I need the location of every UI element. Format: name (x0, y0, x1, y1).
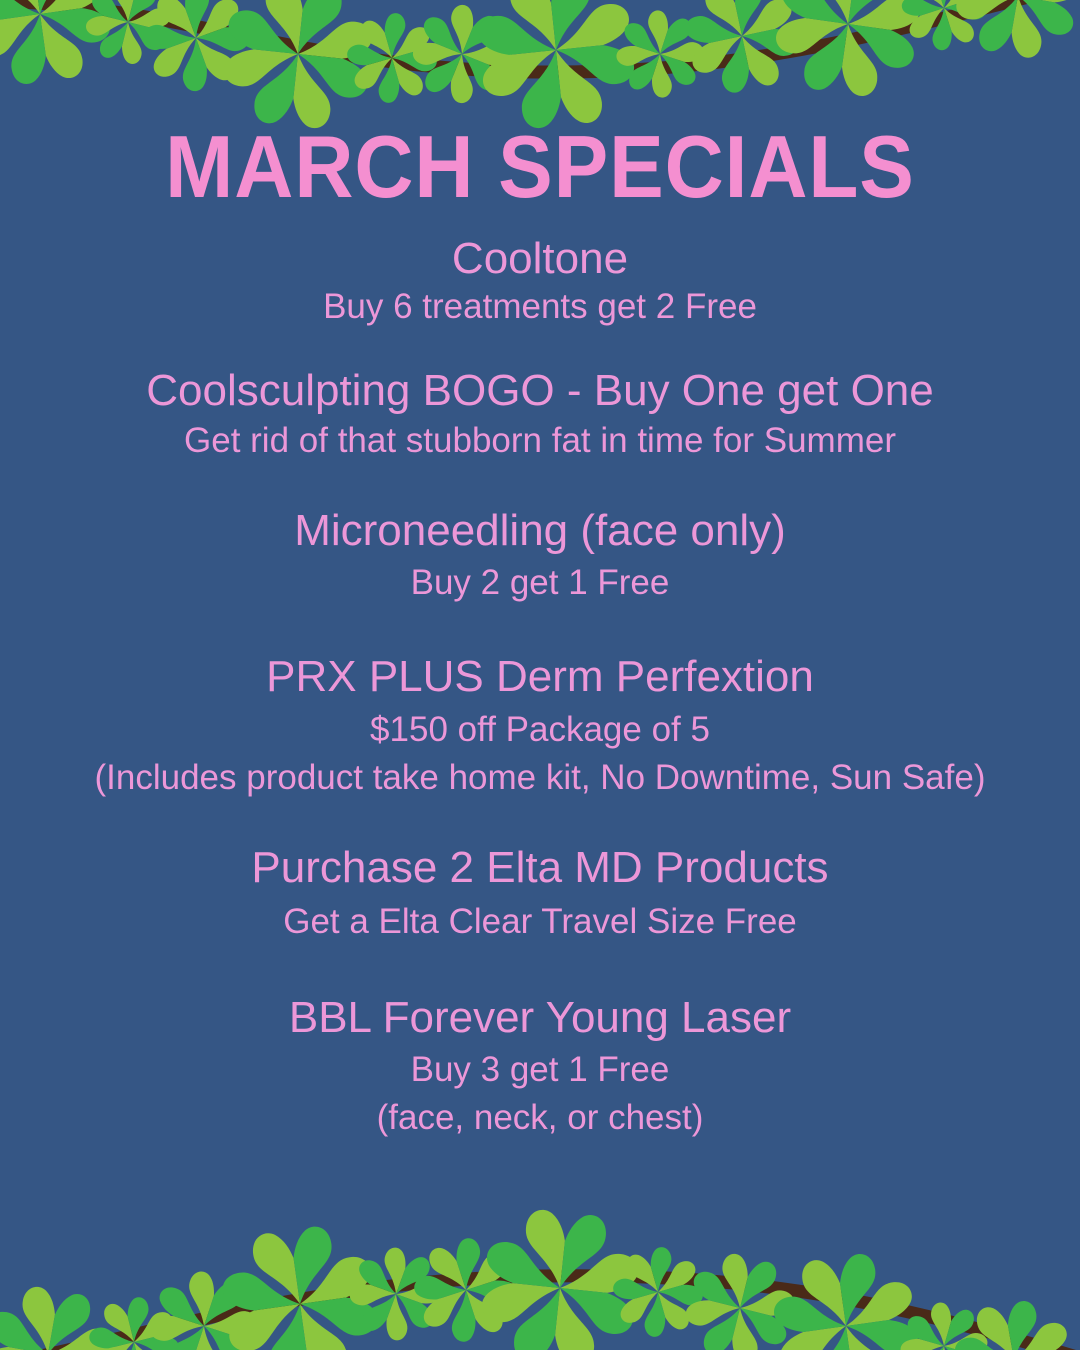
special-title: BBL Forever Young Laser (26, 993, 1054, 1043)
bottom-clover-garland (0, 1156, 1080, 1350)
special-item: BBL Forever Young Laser Buy 3 get 1 Free… (26, 993, 1054, 1139)
special-item: Coolsculpting BOGO - Buy One get One Get… (26, 366, 1054, 462)
special-item: Purchase 2 Elta MD Products Get a Elta C… (26, 843, 1054, 943)
special-detail: Buy 2 get 1 Free (26, 562, 1054, 604)
special-title: Microneedling (face only) (26, 506, 1054, 556)
special-item: Microneedling (face only) Buy 2 get 1 Fr… (26, 506, 1054, 604)
special-detail: $150 off Package of 5 (26, 709, 1054, 751)
vine-stroke (0, 0, 1080, 72)
march-specials-poster: MARCH SPECIALS Cooltone Buy 6 treatments… (0, 0, 1080, 1350)
vine-stroke (0, 1276, 1080, 1350)
special-detail: Get rid of that stubborn fat in time for… (26, 420, 1054, 462)
specials-list: Cooltone Buy 6 treatments get 2 Free Coo… (0, 234, 1080, 1139)
special-title: PRX PLUS Derm Perfextion (26, 652, 1054, 702)
special-item: Cooltone Buy 6 treatments get 2 Free (26, 234, 1054, 328)
special-detail: (face, neck, or chest) (26, 1097, 1054, 1139)
clover-cluster (0, 1205, 1080, 1350)
special-title: Coolsculpting BOGO - Buy One get One (26, 366, 1054, 416)
special-detail: Buy 6 treatments get 2 Free (26, 286, 1054, 328)
special-detail: (Includes product take home kit, No Down… (26, 757, 1054, 799)
special-title: Cooltone (26, 234, 1054, 284)
clover-cluster (0, 0, 1080, 133)
special-detail: Get a Elta Clear Travel Size Free (26, 901, 1054, 943)
page-title: MARCH SPECIALS (38, 123, 1042, 211)
special-item: PRX PLUS Derm Perfextion $150 off Packag… (26, 652, 1054, 798)
special-detail: Buy 3 get 1 Free (26, 1049, 1054, 1091)
special-title: Purchase 2 Elta MD Products (26, 843, 1054, 893)
